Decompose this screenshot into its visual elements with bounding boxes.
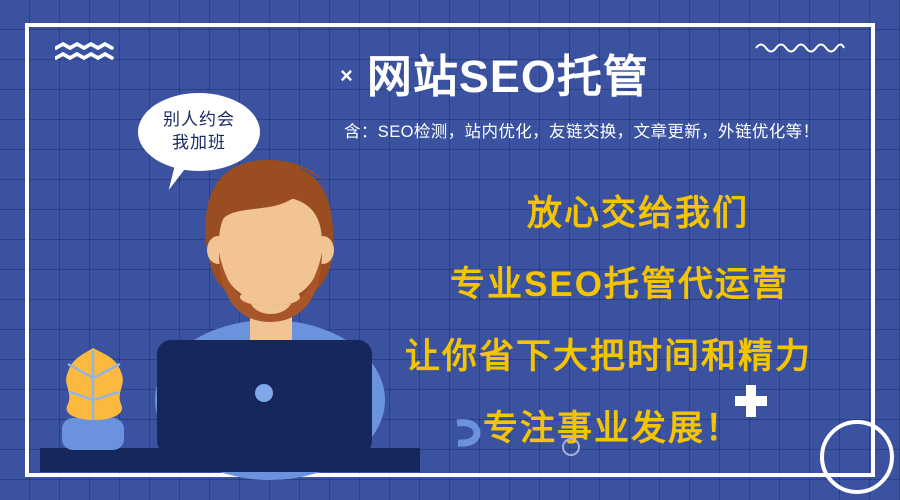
slogan-line-1: 放心交给我们 [527,196,749,231]
ear-right-shape [312,236,334,264]
speech-bubble-line-1: 别人约会 [163,109,235,132]
slogan-line-3: 让你省下大把时间和精力 [405,339,812,374]
mouth-shape [240,288,300,306]
plant-pot [62,418,124,450]
slogan-line-2: 专业SEO托管代运营 [450,267,789,302]
page-title: 网站SEO托管 [367,54,649,99]
page-subtitle: 含：SEO检测，站内优化，友链交换，文章更新，外链优化等！ [344,118,884,142]
desk-surface [40,448,420,472]
cross-bullet-icon: × [340,65,353,87]
headline-row: × 网站SEO托管 [340,46,860,106]
circle-outline-icon [820,420,894,494]
seo-hosting-banner: 别人约会 我加班 × 网站SEO托管 含：SEO检测，站内优化，友链交换，文章更… [0,0,900,500]
ear-left-shape [207,236,229,264]
laptop-logo-icon [255,384,273,402]
plant-leaf [66,348,123,420]
mug-handle [455,418,481,448]
speech-bubble-line-2: 我加班 [172,132,226,155]
speech-bubble: 别人约会 我加班 [138,93,260,171]
slogan-line-4: 专注事业发展！ [483,411,742,446]
